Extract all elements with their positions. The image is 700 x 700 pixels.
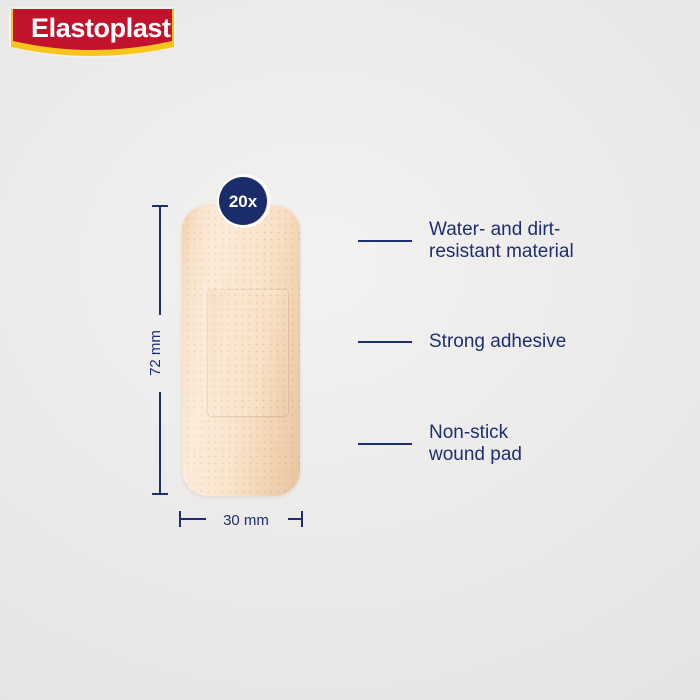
callout-non-stick-wound-pad: Non-stick wound pad [358,422,522,466]
plaster-illustration [0,0,700,700]
callout-water-dirt-resistant: Water- and dirt- resistant material [358,219,574,263]
callout-leader-line [358,240,412,242]
callout-label: Water- and dirt- resistant material [429,219,574,263]
quantity-badge: 20x [217,174,273,230]
callout-leader-line [358,443,412,445]
callout-label: Strong adhesive [429,331,566,353]
callout-strong-adhesive: Strong adhesive [358,331,566,353]
callout-label: Non-stick wound pad [429,422,522,466]
wound-pad-texture [208,290,288,416]
callout-leader-line [358,341,412,343]
product-feature-diagram: Elastoplast 20x [0,0,700,700]
quantity-badge-label: 20x [229,192,258,211]
wound-pad [208,290,288,416]
adhesive-plaster [182,205,300,496]
